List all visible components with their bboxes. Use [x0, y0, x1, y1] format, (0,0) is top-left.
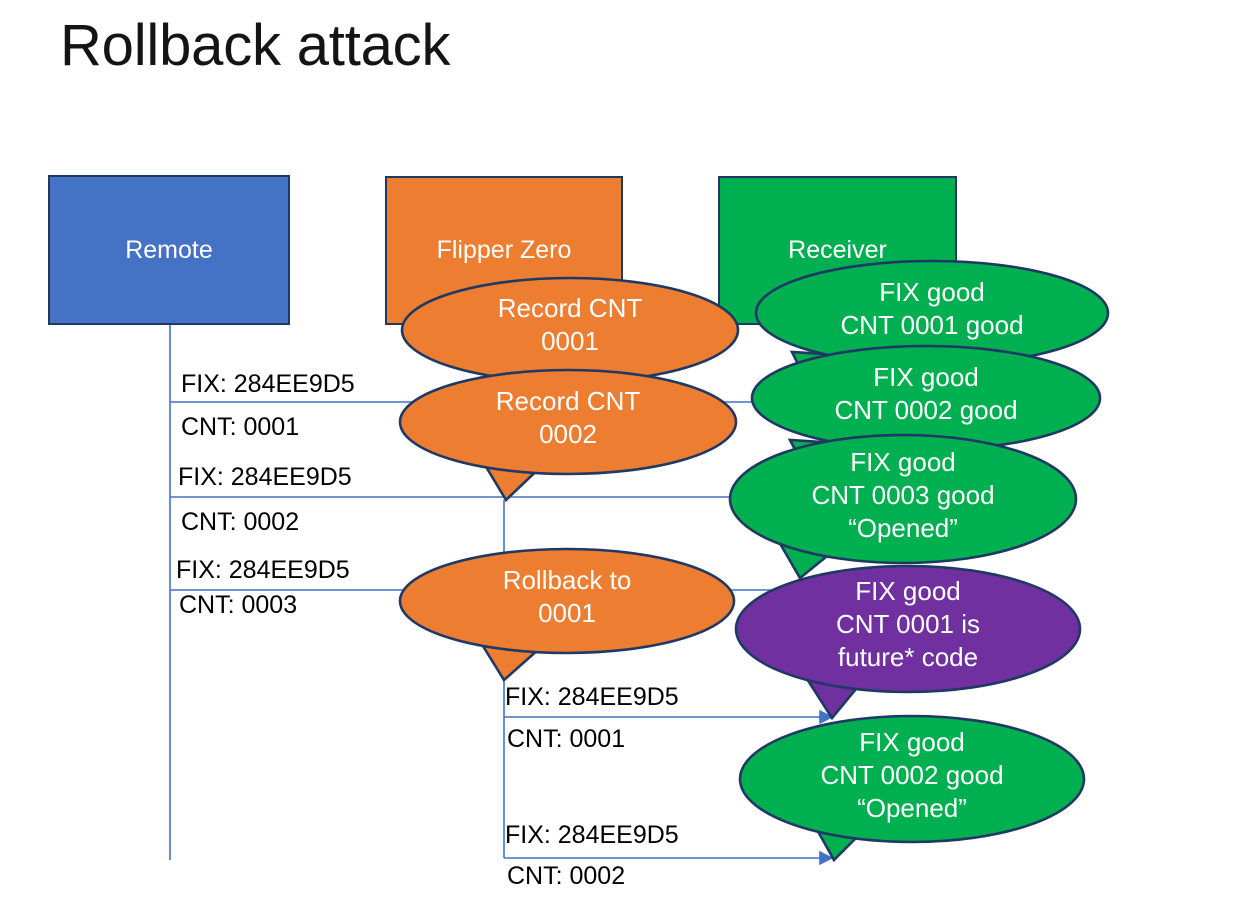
message-cnt-m3: CNT: 0003 [179, 592, 297, 618]
message-fix-m1: FIX: 284EE9D5 [181, 371, 355, 397]
message-fix-m4: FIX: 284EE9D5 [505, 684, 679, 710]
slide-canvas: Rollback attack Remote Flipper Zero Rece… [0, 0, 1233, 898]
message-cnt-m2: CNT: 0002 [181, 509, 299, 535]
callout-shape-fix-cnt0002-opened[interactable] [740, 716, 1084, 860]
message-fix-m5: FIX: 284EE9D5 [505, 822, 679, 848]
callout-shape-fix-cnt0003-opened[interactable] [730, 435, 1076, 578]
message-cnt-m4: CNT: 0001 [507, 726, 625, 752]
callout-shape-record-0002[interactable] [400, 370, 736, 500]
callout-shape-rollback-0001[interactable] [400, 549, 734, 680]
message-fix-m3: FIX: 284EE9D5 [176, 557, 350, 583]
callout-shape-future-code-alert[interactable] [736, 566, 1080, 718]
message-fix-m2: FIX: 284EE9D5 [178, 464, 352, 490]
message-cnt-m1: CNT: 0001 [181, 414, 299, 440]
callout-shape-layer [0, 0, 1233, 898]
message-cnt-m5: CNT: 0002 [507, 863, 625, 889]
